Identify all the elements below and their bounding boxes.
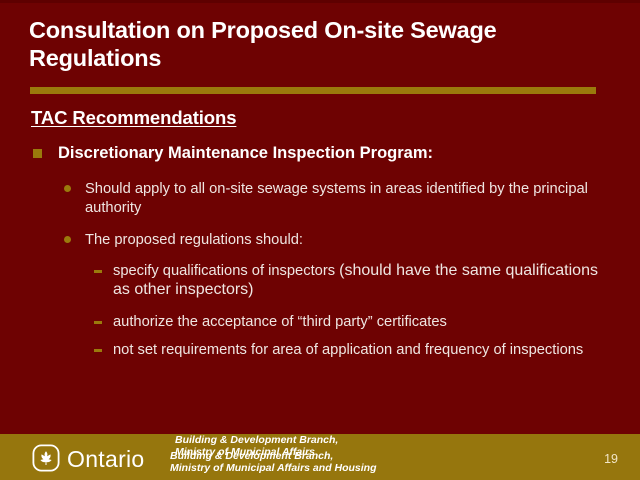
level2-bullet-item: Should apply to all on-site sewage syste… [62,180,607,217]
ontario-brand-label: Ontario [67,446,145,473]
page-number: 19 [604,452,618,466]
round-bullet-icon [64,236,71,243]
level2-bullet-label: Should apply to all on-site sewage syste… [85,181,588,216]
footer-credit-lower: Building & Development Branch, Ministry … [170,450,377,475]
ontario-trillium-logo-icon [32,444,60,472]
level3-bullet-item: authorize the acceptance of “third party… [92,313,612,332]
level3-bullet-label: authorize the acceptance of “third party… [113,314,447,330]
level1-bullet-label: Discretionary Maintenance Inspection Pro… [58,144,433,162]
level3-bullet-item: specify qualifications of inspectors (sh… [92,262,612,299]
title-divider-rule [30,87,596,94]
level3-bullet-label: not set requirements for area of applica… [113,342,583,358]
dash-bullet-icon [94,321,102,324]
level1-bullet-item: Discretionary Maintenance Inspection Pro… [33,143,608,164]
level2-bullet-item: The proposed regulations should: [62,231,607,250]
slide-title: Consultation on Proposed On-site Sewage … [29,16,604,72]
round-bullet-icon [64,185,71,192]
level3-bullet-label: specify qualifications of inspectors [113,263,339,279]
slide: Consultation on Proposed On-site Sewage … [0,0,640,480]
section-heading: TAC Recommendations [31,107,236,129]
square-bullet-icon [33,149,42,158]
dash-bullet-icon [94,270,102,273]
level3-bullet-item: not set requirements for area of applica… [92,341,612,360]
dash-bullet-icon [94,349,102,352]
top-edge-divider [0,0,640,3]
level2-bullet-label: The proposed regulations should: [85,232,303,248]
